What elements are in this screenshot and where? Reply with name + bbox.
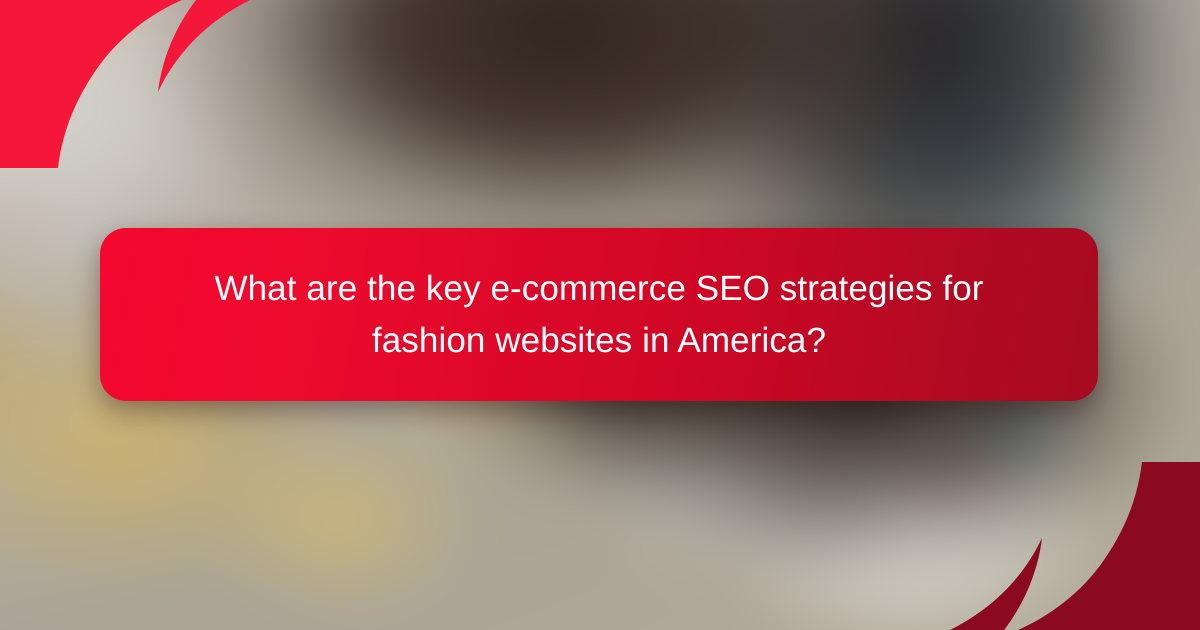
question-text: What are the key e-commerce SEO strategi… <box>166 263 1032 367</box>
question-card: What are the key e-commerce SEO strategi… <box>100 228 1098 401</box>
banner-canvas: What are the key e-commerce SEO strategi… <box>0 0 1200 630</box>
